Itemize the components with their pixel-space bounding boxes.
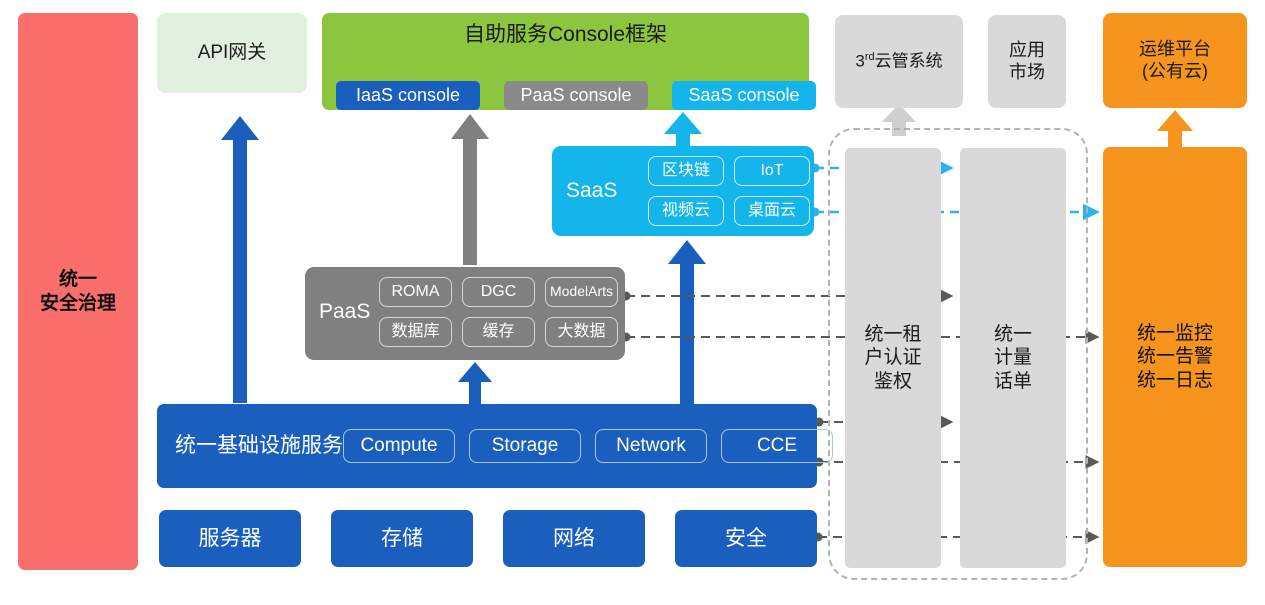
saas-console-chip[interactable]: SaaS console bbox=[672, 81, 816, 110]
iaas-console-chip[interactable]: IaaS console bbox=[336, 81, 480, 110]
iaas-service-storage[interactable]: Storage bbox=[469, 429, 581, 463]
arrow-iaas-to-api-gateway bbox=[221, 116, 259, 403]
hardware-security[interactable]: 安全 bbox=[675, 510, 817, 567]
paas-service-dgc[interactable]: DGC bbox=[462, 277, 535, 307]
iaas-layer[interactable]: 统一基础设施服务 Compute Storage Network CCE bbox=[157, 404, 817, 488]
app-market-box[interactable]: 应用 市场 bbox=[988, 15, 1066, 108]
unified-security-governance-panel[interactable]: 统一 安全治理 bbox=[18, 13, 138, 570]
iaas-service-compute[interactable]: Compute bbox=[343, 429, 455, 463]
self-service-console-framework[interactable]: 自助服务Console框架 IaaS console PaaS console … bbox=[322, 13, 809, 110]
paas-layer-label: PaaS bbox=[319, 299, 370, 325]
shared-service-metering[interactable]: 统一 计量 话单 bbox=[960, 148, 1066, 568]
saas-service-video-cloud[interactable]: 视频云 bbox=[648, 196, 724, 226]
saas-layer[interactable]: SaaS 区块链 IoT 视频云 桌面云 bbox=[552, 146, 814, 236]
iaas-layer-label: 统一基础设施服务 bbox=[175, 433, 343, 459]
paas-layer[interactable]: PaaS ROMA DGC ModelArts 数据库 缓存 大数据 bbox=[305, 267, 625, 360]
console-framework-title: 自助服务Console框架 bbox=[322, 22, 809, 48]
paas-service-cache[interactable]: 缓存 bbox=[462, 317, 535, 347]
arrow-ops-main-to-ops-top bbox=[1157, 110, 1193, 148]
saas-service-iot[interactable]: IoT bbox=[734, 156, 810, 186]
arrow-paas-to-console bbox=[451, 114, 489, 265]
ops-platform-monitoring-panel[interactable]: 统一监控 统一告警 统一日志 bbox=[1103, 147, 1247, 567]
paas-service-modelarts[interactable]: ModelArts bbox=[545, 277, 618, 307]
saas-service-desktop-cloud[interactable]: 桌面云 bbox=[734, 196, 810, 226]
shared-service-auth[interactable]: 统一租 户认证 鉴权 bbox=[845, 148, 941, 568]
paas-service-bigdata[interactable]: 大数据 bbox=[545, 317, 618, 347]
iaas-service-network[interactable]: Network bbox=[595, 429, 707, 463]
saas-layer-label: SaaS bbox=[566, 178, 617, 204]
iaas-service-cce[interactable]: CCE bbox=[721, 429, 833, 463]
saas-service-blockchain[interactable]: 区块链 bbox=[648, 156, 724, 186]
paas-console-chip[interactable]: PaaS console bbox=[504, 81, 648, 110]
third-party-cloud-management-box[interactable]: 3rd云管系统 bbox=[835, 15, 963, 108]
arrow-iaas-to-saas bbox=[668, 240, 706, 405]
paas-service-database[interactable]: 数据库 bbox=[379, 317, 452, 347]
paas-service-roma[interactable]: ROMA bbox=[379, 277, 452, 307]
arrow-iaas-to-paas bbox=[458, 362, 492, 404]
architecture-diagram-canvas: 统一租 户认证 鉴权 统一 计量 话单 统一 安全治理 API网关 自助服务Co… bbox=[0, 0, 1265, 605]
hardware-storage[interactable]: 存储 bbox=[331, 510, 473, 567]
hardware-network[interactable]: 网络 bbox=[503, 510, 645, 567]
third-party-cloud-label: 3rd云管系统 bbox=[855, 51, 942, 72]
ops-platform-public-cloud-box[interactable]: 运维平台 (公有云) bbox=[1103, 13, 1247, 108]
hardware-server[interactable]: 服务器 bbox=[159, 510, 301, 567]
api-gateway-box[interactable]: API网关 bbox=[157, 13, 307, 93]
